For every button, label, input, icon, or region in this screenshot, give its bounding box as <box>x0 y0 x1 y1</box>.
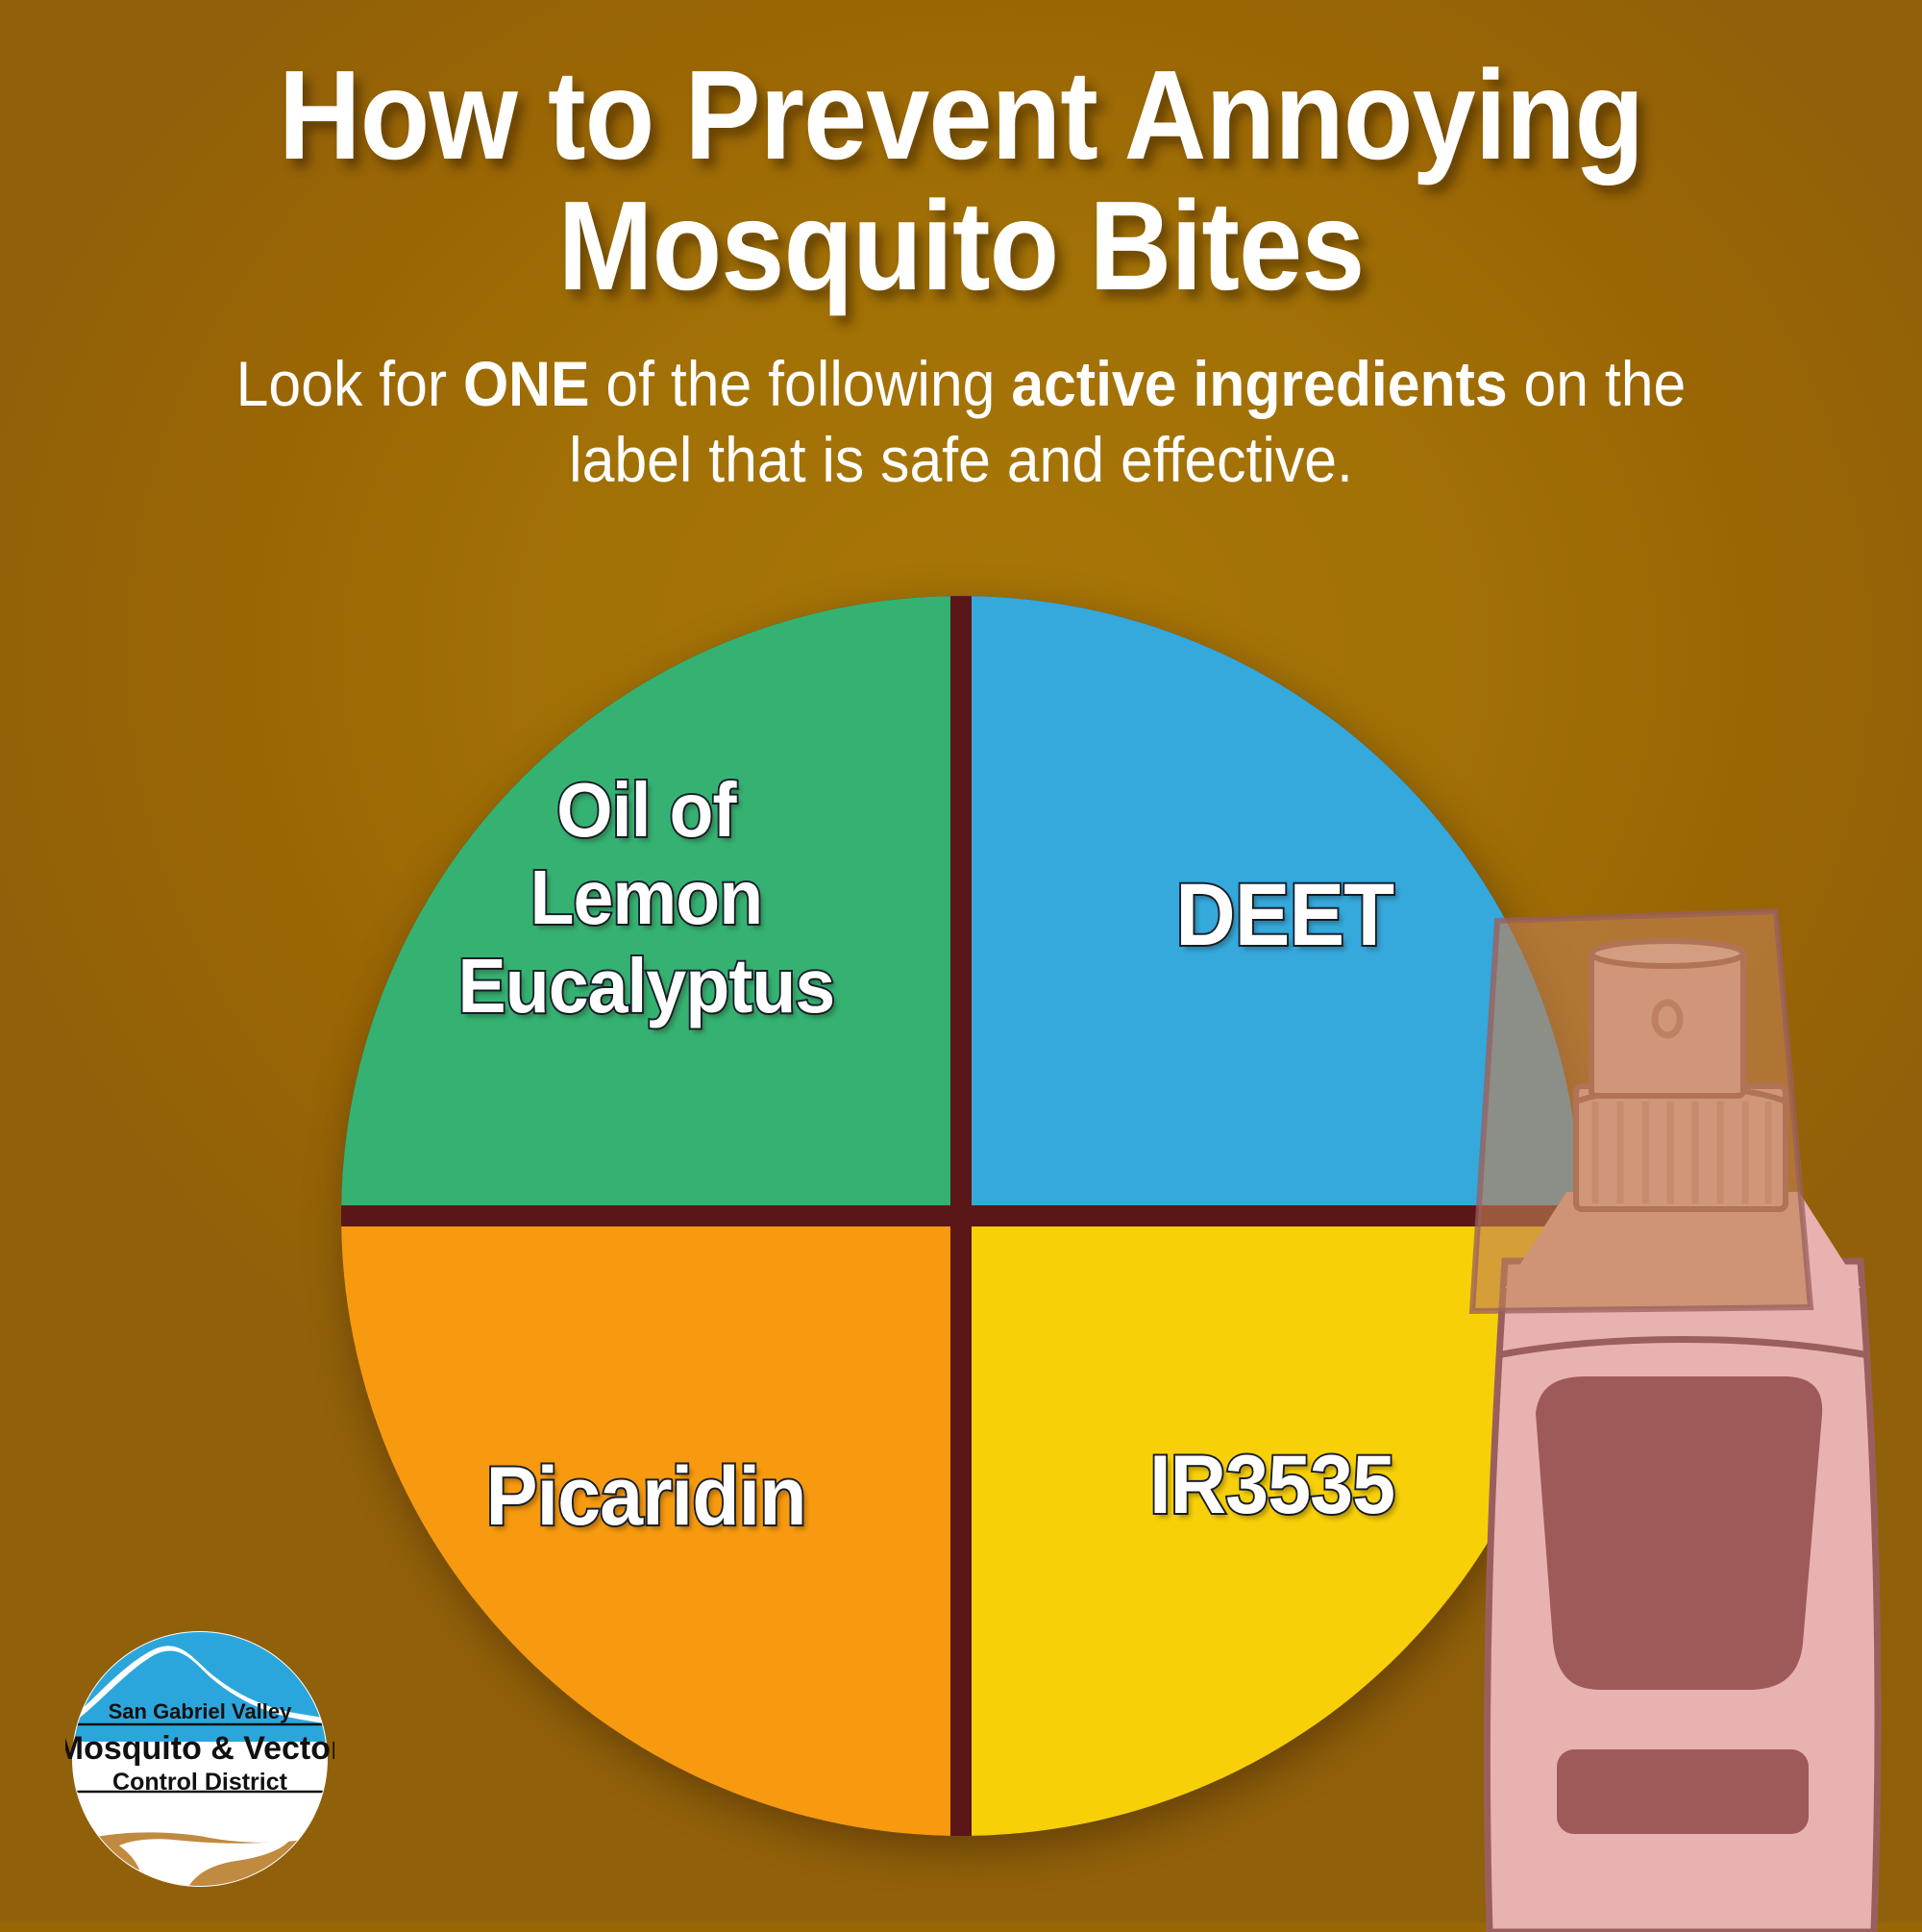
ingredient-pie-chart: Oil of Lemon Eucalyptus DEET Picaridin I… <box>341 596 1581 1836</box>
subtitle-text-2: of the following <box>590 348 1012 419</box>
pie-chart-wheel: Oil of Lemon Eucalyptus DEET Picaridin I… <box>341 596 1581 1836</box>
label-line-3: Eucalyptus <box>457 943 834 1028</box>
pie-slice-label-oil-of-lemon-eucalyptus: Oil of Lemon Eucalyptus <box>434 766 858 1029</box>
subtitle: Look for ONE of the following active ing… <box>77 346 1845 498</box>
pie-slice-oil-of-lemon-eucalyptus[interactable]: Oil of Lemon Eucalyptus <box>341 596 950 1205</box>
title-line-1: How to Prevent Annoying <box>96 50 1826 181</box>
subtitle-emphasis-one: ONE <box>463 348 590 419</box>
logo-line-1-text: San Gabriel Valley <box>109 1699 293 1723</box>
subtitle-emphasis-active-ingredients: active ingredients <box>1011 348 1507 419</box>
label-line-1: Oil of <box>556 767 736 853</box>
sgv-mosquito-vector-control-district-logo[interactable]: San Gabriel Valley Mosquito & Vector Con… <box>65 1624 334 1894</box>
header: How to Prevent Annoying Mosquito Bites L… <box>0 0 1922 498</box>
logo-line-3-text: Control District <box>112 1769 288 1796</box>
pie-slice-picaridin[interactable]: Picaridin <box>341 1226 950 1836</box>
pie-slice-label-deet: DEET <box>1152 865 1417 966</box>
subtitle-text-1: Look for <box>236 348 463 419</box>
pie-slice-label-ir3535: IR3535 <box>1126 1438 1418 1532</box>
logo-line-2-text: Mosquito & Vector <box>65 1730 334 1767</box>
insect-repellent-spray-bottle <box>1422 904 1922 1932</box>
page-title: How to Prevent Annoying Mosquito Bites <box>96 50 1826 311</box>
title-line-2: Mosquito Bites <box>96 181 1826 311</box>
label-line-2: Lemon <box>530 855 762 940</box>
pie-slice-label-picaridin: Picaridin <box>462 1449 829 1544</box>
